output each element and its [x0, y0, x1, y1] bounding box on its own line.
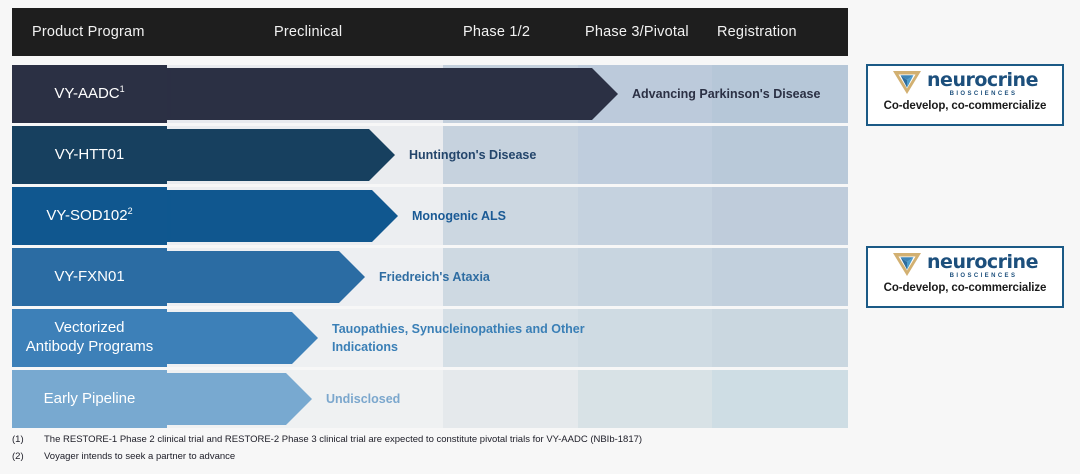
- pipeline-row[interactable]: VectorizedAntibody ProgramsTauopathies, …: [12, 309, 848, 367]
- neurocrine-brand-sub-2: BIOSCIENCES: [950, 273, 1018, 279]
- indication-label: Tauopathies, Synucleinopathies and Other…: [332, 309, 842, 367]
- neurocrine-brand-name-2: neurocrine: [927, 253, 1038, 272]
- indication-label: Huntington's Disease: [409, 126, 842, 184]
- program-name: Early Pipeline: [38, 390, 142, 409]
- footnote-1-number: (1): [12, 434, 44, 445]
- program-label[interactable]: Early Pipeline: [12, 370, 167, 428]
- neurocrine-triangle-icon: [892, 69, 922, 100]
- program-footnote-marker: 1: [120, 84, 125, 94]
- footnote-2-text: Voyager intends to seek a partner to adv…: [44, 451, 235, 462]
- footnote-1-text: The RESTORE-1 Phase 2 clinical trial and…: [44, 434, 642, 445]
- pipeline-row[interactable]: Early PipelineUndisclosed: [12, 370, 848, 428]
- progress-bar: [164, 312, 318, 364]
- partner-tagline-2: Co-develop, co-commercialize: [868, 282, 1062, 294]
- neurocrine-wordmark-1: neurocrine BIOSCIENCES: [927, 71, 1038, 97]
- column-header-registration: Registration: [717, 8, 797, 56]
- partner-tagline-1: Co-develop, co-commercialize: [868, 100, 1062, 112]
- program-name: VY-SOD1022: [40, 206, 138, 226]
- indication-label: Undisclosed: [326, 370, 842, 428]
- progress-bar: [164, 251, 365, 303]
- program-label[interactable]: VY-FXN01: [12, 248, 167, 306]
- program-name: VY-HTT01: [49, 146, 130, 165]
- footnote-1: (1)The RESTORE-1 Phase 2 clinical trial …: [12, 434, 642, 445]
- pipeline-row[interactable]: VY-FXN01Friedreich's Ataxia: [12, 248, 848, 306]
- progress-bar: [164, 129, 395, 181]
- pipeline-row[interactable]: VY-SOD1022Monogenic ALS: [12, 187, 848, 245]
- indication-label: Friedreich's Ataxia: [379, 248, 842, 306]
- progress-bar: [164, 373, 312, 425]
- pipeline-chart: Product Program Preclinical Phase 1/2 Ph…: [0, 0, 1080, 474]
- column-header-phase-1-2: Phase 1/2: [463, 8, 530, 56]
- indication-label: Advancing Parkinson's Disease: [632, 65, 842, 123]
- progress-bar: [164, 68, 618, 120]
- partner-callout-neurocrine-1: neurocrine BIOSCIENCES Co-develop, co-co…: [866, 64, 1064, 126]
- neurocrine-brand-name-1: neurocrine: [927, 71, 1038, 90]
- program-name: VY-AADC1: [48, 84, 130, 104]
- neurocrine-logo-2: neurocrine BIOSCIENCES: [868, 251, 1062, 281]
- partner-callout-neurocrine-2: neurocrine BIOSCIENCES Co-develop, co-co…: [866, 246, 1064, 308]
- column-header-product-program: Product Program: [32, 8, 145, 56]
- pipeline-row[interactable]: VY-AADC1Advancing Parkinson's Disease: [12, 65, 848, 123]
- column-header-phase-3-pivotal: Phase 3/Pivotal: [585, 8, 689, 56]
- program-label[interactable]: VY-AADC1: [12, 65, 167, 123]
- neurocrine-logo-1: neurocrine BIOSCIENCES: [868, 69, 1062, 99]
- progress-bar: [164, 190, 398, 242]
- footnote-2: (2)Voyager intends to seek a partner to …: [12, 451, 235, 462]
- footnote-2-number: (2): [12, 451, 44, 462]
- pipeline-header: Product Program Preclinical Phase 1/2 Ph…: [12, 8, 848, 56]
- program-label[interactable]: VY-HTT01: [12, 126, 167, 184]
- neurocrine-wordmark-2: neurocrine BIOSCIENCES: [927, 253, 1038, 279]
- neurocrine-brand-sub-1: BIOSCIENCES: [950, 91, 1018, 97]
- program-name: VectorizedAntibody Programs: [20, 319, 160, 357]
- pipeline-row[interactable]: VY-HTT01Huntington's Disease: [12, 126, 848, 184]
- program-name: VY-FXN01: [48, 268, 130, 287]
- program-label[interactable]: VectorizedAntibody Programs: [12, 309, 167, 367]
- program-footnote-marker: 2: [128, 206, 133, 216]
- neurocrine-triangle-icon: [892, 251, 922, 282]
- indication-label: Monogenic ALS: [412, 187, 842, 245]
- column-header-preclinical: Preclinical: [274, 8, 342, 56]
- program-label[interactable]: VY-SOD1022: [12, 187, 167, 245]
